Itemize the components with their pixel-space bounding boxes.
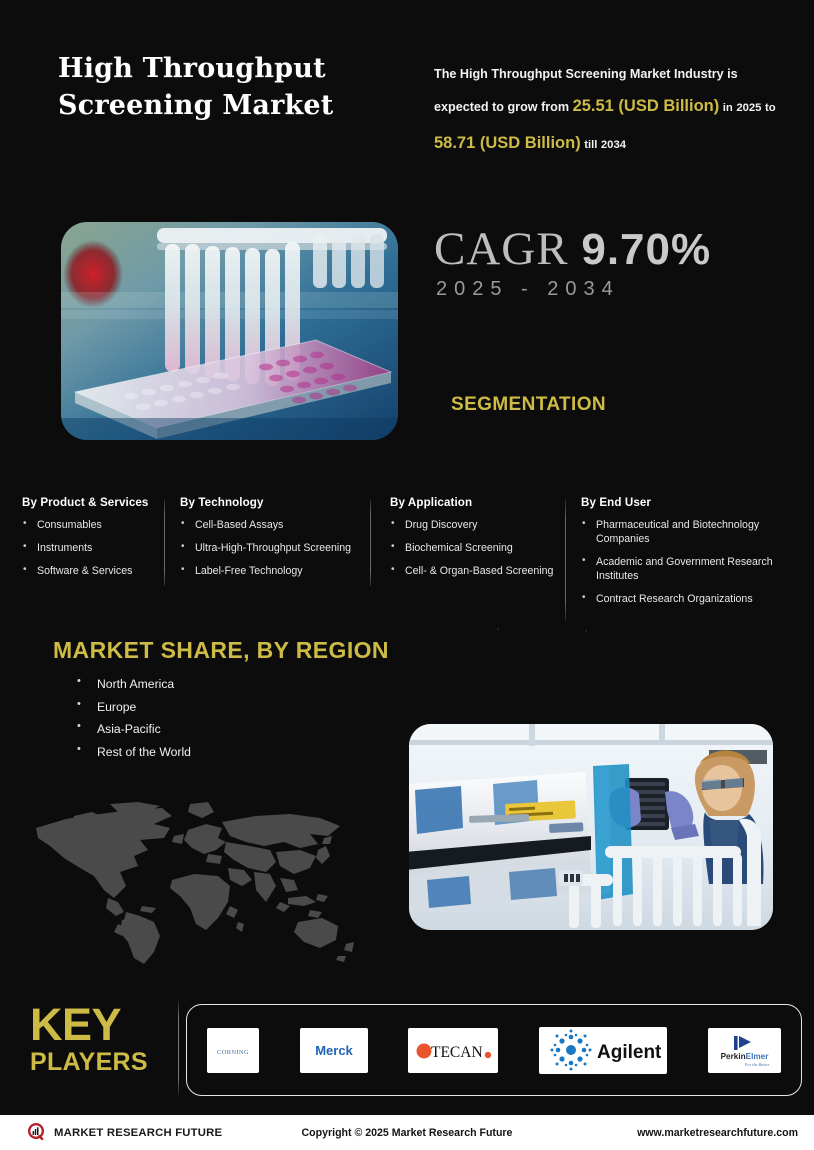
market-share-heading: MARKET SHARE, BY REGION — [53, 637, 389, 664]
logo-tecan[interactable]: TECAN — [408, 1028, 498, 1073]
cagr-value: 9.70% — [581, 225, 711, 274]
segment-item: Contract Research Organizations — [581, 592, 801, 606]
region-item: Asia-Pacific — [75, 723, 191, 735]
lab-instrument-illustration — [409, 724, 773, 930]
key-players-logo-panel: CORNING Merck TECAN — [186, 1004, 802, 1096]
perkinelmer-logo: PerkinElmer For the Better — [709, 1029, 780, 1072]
segment-column-end-user: By End User Pharmaceutical and Biotechno… — [581, 496, 801, 615]
segmentation-divider-2 — [370, 500, 371, 586]
svg-text:TECAN: TECAN — [431, 1044, 483, 1061]
region-item: North America — [75, 678, 191, 690]
segment-item: Academic and Government Research Institu… — [581, 555, 801, 583]
segment-item: Software & Services — [22, 564, 162, 578]
svg-text:Merck: Merck — [315, 1043, 353, 1058]
segment-item: Drug Discovery — [390, 518, 565, 532]
pipette-microplate-illustration — [61, 222, 398, 440]
market-year-end: 2034 — [601, 139, 626, 151]
agilent-logo: Agilent — [540, 1028, 666, 1073]
svg-text:PerkinElmer: PerkinElmer — [720, 1052, 769, 1061]
segment-item: Label-Free Technology — [180, 564, 368, 578]
market-value-start: 25.51 (USD Billion) — [573, 97, 720, 115]
segmentation-divider-1 — [164, 500, 165, 586]
summary-mid-1: in — [723, 102, 733, 114]
key-players-title: KEY PLAYERS — [30, 1002, 170, 1078]
segment-column-technology: By Technology Cell-Based Assays Ultra-Hi… — [180, 496, 368, 587]
segment-item: Pharmaceutical and Biotechnology Compani… — [581, 518, 801, 546]
segmentation-divider-3 — [565, 500, 566, 620]
key-players-title-line1: KEY — [30, 1002, 170, 1047]
page-title: High Throughput Screening Market — [58, 50, 398, 125]
segment-title: By Application — [390, 496, 565, 509]
market-summary-text: The High Throughput Screening Market Ind… — [434, 60, 784, 163]
hero-image-pipette-microplate — [61, 222, 398, 440]
corning-logo: CORNING — [208, 1029, 258, 1072]
region-item: Europe — [75, 701, 191, 713]
segment-title: By End User — [581, 496, 801, 509]
segment-title: By Technology — [180, 496, 368, 509]
segment-title: By Product & Services — [22, 496, 162, 509]
segment-item-list: Pharmaceutical and Biotechnology Compani… — [581, 518, 801, 606]
decorative-dot — [497, 628, 499, 630]
summary-mid-3: till — [584, 139, 597, 151]
logo-corning[interactable]: CORNING — [207, 1028, 259, 1073]
segment-item: Ultra-High-Throughput Screening — [180, 541, 368, 555]
segment-item-list: Consumables Instruments Software & Servi… — [22, 518, 162, 578]
segment-item: Consumables — [22, 518, 162, 532]
segment-item: Cell- & Organ-Based Screening — [390, 564, 565, 578]
svg-text:For the Better: For the Better — [743, 1062, 769, 1067]
logo-perkinelmer[interactable]: PerkinElmer For the Better — [708, 1028, 781, 1073]
cagr-period: 2025 - 2034 — [436, 278, 620, 301]
segment-column-application: By Application Drug Discovery Biochemica… — [390, 496, 565, 587]
logo-agilent[interactable]: Agilent — [539, 1027, 667, 1074]
cagr-label: CAGR — [434, 223, 569, 275]
infographic-page: High Throughput Screening Market The Hig… — [0, 0, 814, 1150]
market-value-end: 58.71 (USD Billion) — [434, 134, 581, 152]
segment-item: Cell-Based Assays — [180, 518, 368, 532]
segment-item: Biochemical Screening — [390, 541, 565, 555]
tecan-logo: TECAN — [409, 1029, 497, 1072]
segment-item: Instruments — [22, 541, 162, 555]
key-players-title-line2: PLAYERS — [30, 1047, 170, 1078]
world-map-silhouette — [22, 794, 378, 970]
lab-technician-photo — [409, 724, 773, 930]
logo-merck[interactable]: Merck — [300, 1028, 368, 1073]
segment-item-list: Drug Discovery Biochemical Screening Cel… — [390, 518, 565, 578]
segmentation-heading: SEGMENTATION — [451, 394, 606, 416]
key-players-divider — [178, 1000, 179, 1096]
footer-url[interactable]: www.marketresearchfuture.com — [637, 1127, 798, 1139]
summary-mid-2: to — [765, 102, 776, 114]
svg-text:CORNING: CORNING — [217, 1049, 249, 1056]
footer: MARKET RESEARCH FUTURE Copyright © 2025 … — [0, 1115, 814, 1150]
cagr-block: CAGR 9.70% — [434, 222, 711, 276]
segmentation-section: By Product & Services Consumables Instru… — [0, 496, 814, 626]
decorative-dot — [585, 630, 587, 632]
market-share-region-list: North America Europe Asia-Pacific Rest o… — [75, 678, 191, 769]
market-year-start: 2025 — [736, 102, 761, 114]
segment-column-product-services: By Product & Services Consumables Instru… — [22, 496, 162, 587]
svg-text:Agilent: Agilent — [597, 1042, 662, 1063]
merck-logo: Merck — [301, 1029, 367, 1072]
segment-item-list: Cell-Based Assays Ultra-High-Throughput … — [180, 518, 368, 578]
region-item: Rest of the World — [75, 746, 191, 758]
world-map — [22, 794, 378, 970]
